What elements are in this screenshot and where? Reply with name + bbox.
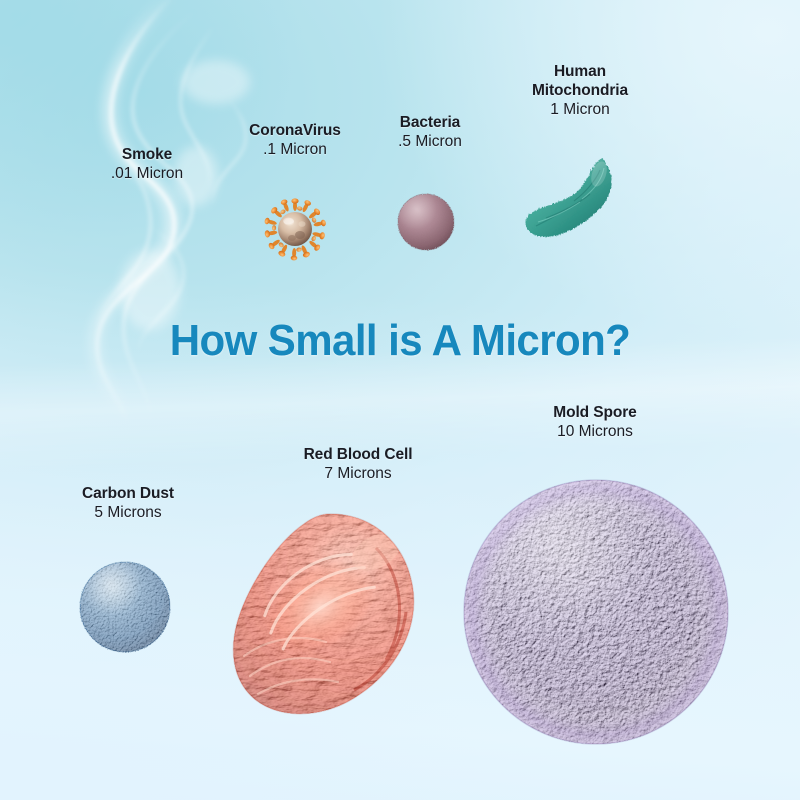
label-red-blood-cell-size: 7 Microns (273, 465, 443, 484)
label-smoke-size: .01 Micron (62, 165, 232, 184)
bacteria-sphere-icon (396, 192, 458, 254)
page-title: How Small is A Micron? (18, 316, 782, 366)
label-coronavirus-name: CoronaVirus (215, 122, 375, 141)
label-carbon-dust-name: Carbon Dust (48, 485, 208, 504)
micron-scale-infographic: Smoke .01 Micron CoronaVirus .1 Micron B… (0, 0, 800, 800)
label-smoke-name: Smoke (62, 146, 232, 165)
label-mold-spore-size: 10 Microns (500, 423, 690, 442)
label-coronavirus-size: .1 Micron (215, 141, 375, 160)
label-red-blood-cell: Red Blood Cell 7 Microns (273, 446, 443, 484)
label-human-mitochondria: Human Mitochondria 1 Micron (490, 63, 670, 120)
label-mold-spore: Mold Spore 10 Microns (500, 404, 690, 442)
label-coronavirus: CoronaVirus .1 Micron (215, 122, 375, 160)
label-human-mitochondria-size: 1 Micron (490, 101, 670, 120)
red-blood-cell-icon (226, 508, 426, 724)
label-carbon-dust-size: 5 Microns (48, 504, 208, 523)
label-carbon-dust: Carbon Dust 5 Microns (48, 485, 208, 523)
label-human-mitochondria-name-line2: Mitochondria (490, 82, 670, 101)
label-smoke: Smoke .01 Micron (62, 146, 232, 184)
label-mold-spore-name: Mold Spore (500, 404, 690, 423)
label-bacteria: Bacteria .5 Micron (360, 114, 500, 152)
label-human-mitochondria-name-line1: Human (490, 63, 670, 82)
carbon-dust-sphere-icon (78, 560, 174, 656)
label-red-blood-cell-name: Red Blood Cell (273, 446, 443, 465)
mold-spore-sphere-icon (462, 478, 734, 754)
mitochondria-icon (516, 152, 622, 252)
coronavirus-particle-icon (266, 198, 324, 260)
label-bacteria-name: Bacteria (360, 114, 500, 133)
label-bacteria-size: .5 Micron (360, 133, 500, 152)
